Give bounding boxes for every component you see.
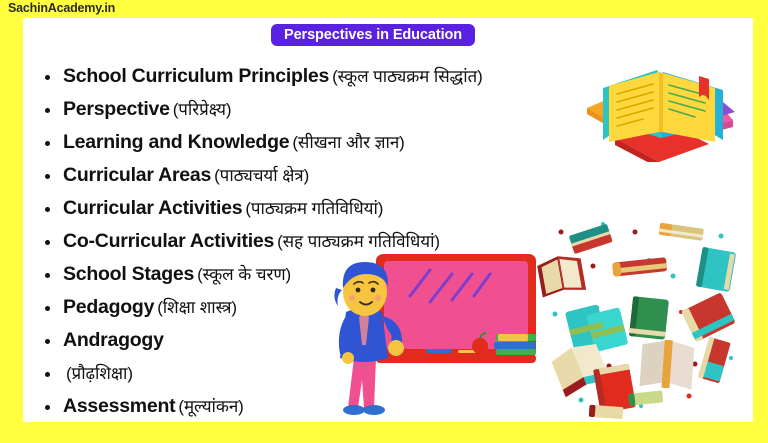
- list-item-hindi: (पाठ्यचर्या क्षेत्र): [214, 166, 309, 185]
- watermark-band: SachinAcademy.in: [0, 0, 768, 18]
- list-item: Curricular Activities(पाठ्यक्रम गतिविधिय…: [31, 192, 631, 225]
- list-item: Assessment(मूल्यांकन): [31, 390, 631, 422]
- page-content: Perspectives in Education School Curricu…: [23, 18, 753, 422]
- topic-list: School Curriculum Principles(स्कूल पाठ्य…: [31, 60, 631, 422]
- list-item-hindi: (परिप्रेक्ष्य): [173, 100, 232, 119]
- list-item-english: Perspective: [63, 98, 170, 120]
- list-item: School Curriculum Principles(स्कूल पाठ्य…: [31, 60, 631, 93]
- list-item-hindi: (सह पाठ्यक्रम गतिविधियां): [277, 232, 440, 251]
- list-item-hindi: (सीखना और ज्ञान): [292, 133, 404, 152]
- list-item-english: Assessment: [63, 395, 175, 417]
- list-item: Pedagogy(शिक्षा शास्त्र): [31, 291, 631, 324]
- list-item-hindi: (स्कूल पाठ्यक्रम सिद्धांत): [332, 67, 483, 86]
- list-item-hindi: (शिक्षा शास्त्र): [157, 298, 237, 317]
- list-item: Andragogy: [31, 324, 631, 357]
- poster-canvas: SachinAcademy.in Perspectives in Educati…: [0, 0, 768, 443]
- list-item-hindi: (प्रौढ़शिक्षा): [66, 364, 133, 383]
- page-title: Perspectives in Education: [284, 27, 462, 43]
- list-item-english: Learning and Knowledge: [63, 131, 289, 153]
- list-item-english: Pedagogy: [63, 296, 154, 318]
- page-title-badge: Perspectives in Education: [271, 24, 475, 46]
- list-item-hindi: (स्कूल के चरण): [197, 265, 291, 284]
- list-item-english: School Stages: [63, 263, 194, 285]
- list-item-english: Co-Curricular Activities: [63, 230, 274, 252]
- list-item: Co-Curricular Activities(सह पाठ्यक्रम गत…: [31, 225, 631, 258]
- list-item-english: School Curriculum Principles: [63, 65, 329, 87]
- list-item: (प्रौढ़शिक्षा): [31, 357, 631, 390]
- list-item: Perspective(परिप्रेक्ष्य): [31, 93, 631, 126]
- list-item-english: Curricular Areas: [63, 164, 211, 186]
- list-item: Learning and Knowledge(सीखना और ज्ञान): [31, 126, 631, 159]
- list-item-hindi: (मूल्यांकन): [178, 397, 243, 416]
- list-item-hindi: (पाठ्यक्रम गतिविधियां): [245, 199, 383, 218]
- list-item: School Stages(स्कूल के चरण): [31, 258, 631, 291]
- list-item: Curricular Areas(पाठ्यचर्या क्षेत्र): [31, 159, 631, 192]
- watermark-text: SachinAcademy.in: [8, 1, 115, 15]
- list-item-english: Curricular Activities: [63, 197, 242, 219]
- list-item-english: Andragogy: [63, 329, 164, 351]
